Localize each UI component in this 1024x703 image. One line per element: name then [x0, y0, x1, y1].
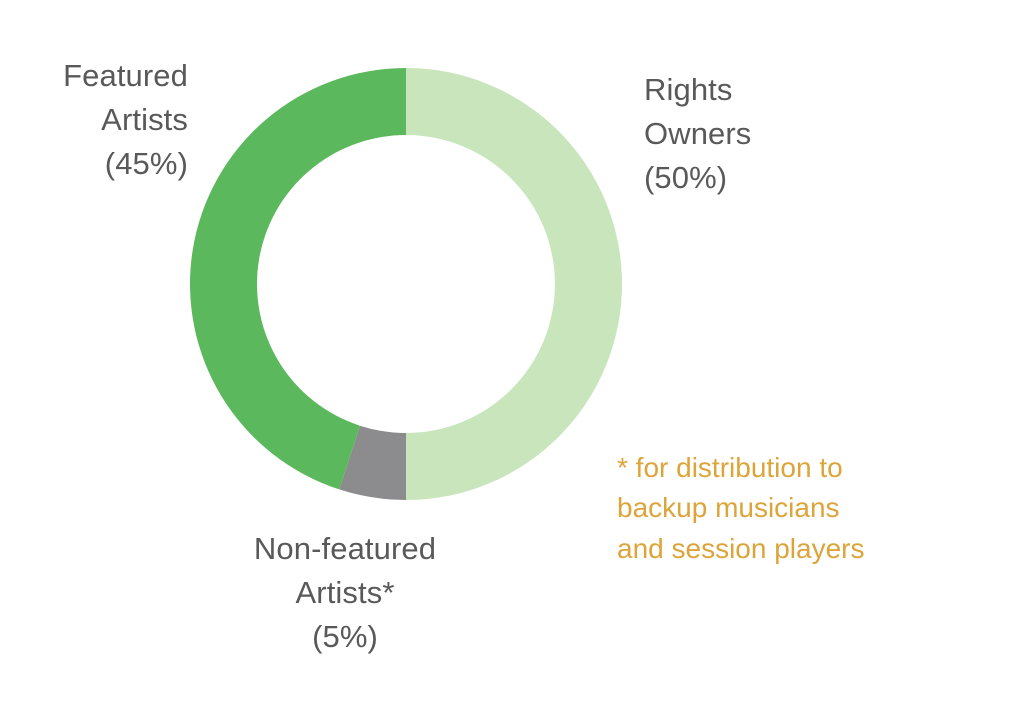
donut-slice-featured-artists[interactable] — [190, 68, 406, 489]
slice-label-featured-artists: Featured Artists (45%) — [8, 54, 188, 186]
donut-chart — [190, 68, 622, 500]
footnote-text: * for distribution to backup musicians a… — [617, 448, 947, 569]
donut-slice-group — [190, 68, 622, 500]
slice-label-rights-owners: Rights Owners (50%) — [644, 68, 914, 200]
chart-canvas: Featured Artists (45%) Rights Owners (50… — [0, 0, 1024, 703]
slice-label-nonfeatured-artists: Non-featured Artists* (5%) — [185, 527, 505, 659]
donut-chart-svg — [190, 68, 622, 500]
donut-slice-rights-owners[interactable] — [406, 68, 622, 500]
